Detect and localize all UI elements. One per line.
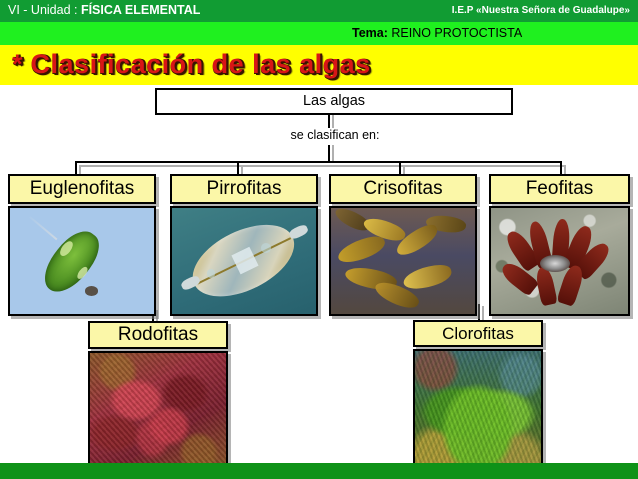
euglena-eyespot: [85, 286, 98, 296]
image-crisofitas: [329, 206, 477, 316]
kelp-blade: [401, 262, 453, 292]
caption-crisofitas: Crisofitas: [329, 174, 477, 204]
topic-value: REINO PROTOCTISTA: [391, 26, 522, 40]
euglena-flagellum: [30, 217, 58, 241]
image-euglenofitas: [8, 206, 156, 316]
connector-drop-clorofitas: [478, 304, 480, 320]
header-topic-band: Tema: REINO PROTOCTISTA: [0, 22, 638, 45]
kelp-blade: [335, 233, 387, 266]
topic-line: Tema: REINO PROTOCTISTA: [352, 26, 522, 40]
connector-root-stem-shadow: [332, 115, 334, 128]
diatom-vacuole-b: [261, 243, 271, 253]
alga-frond: [534, 266, 558, 307]
image-feofitas: [489, 206, 630, 316]
root-node-label: Las algas: [157, 90, 511, 113]
caption-feofitas: Feofitas: [489, 174, 630, 204]
classification-label: se clasifican en:: [240, 128, 430, 142]
alga-holdfast: [540, 255, 570, 272]
caption-euglenofitas-label: Euglenofitas: [10, 176, 154, 202]
header-top-band: VI - Unidad : FÍSICA ELEMENTAL I.E.P «Nu…: [0, 0, 638, 22]
title-banner: * Clasificación de las algas: [0, 45, 638, 85]
caption-clorofitas-label: Clorofitas: [415, 322, 541, 345]
caption-pirrofitas: Pirrofitas: [170, 174, 318, 204]
caption-pirrofitas-label: Pirrofitas: [172, 176, 316, 202]
connector-horizontal-bus-shadow: [79, 165, 566, 167]
image-clorofitas: [413, 349, 543, 475]
caption-crisofitas-label: Crisofitas: [331, 176, 475, 202]
image-pirrofitas: [170, 206, 318, 316]
green-alga-texture: [415, 351, 541, 473]
unit-title: VI - Unidad : FÍSICA ELEMENTAL: [8, 3, 200, 17]
connector-root-stem: [328, 115, 330, 128]
caption-clorofitas: Clorofitas: [413, 320, 543, 347]
connector-bus-stem-shadow: [332, 145, 334, 161]
image-rodofitas: [88, 351, 228, 473]
red-alga-texture: [90, 353, 226, 471]
diatom-tip-b: [287, 223, 308, 240]
caption-rodofitas: Rodofitas: [88, 321, 228, 349]
caption-feofitas-label: Feofitas: [491, 176, 628, 202]
slide-title: * Clasificación de las algas: [12, 49, 371, 80]
caption-rodofitas-label: Rodofitas: [90, 323, 226, 347]
school-name: I.E.P «Nuestra Señora de Guadalupe»: [452, 5, 630, 16]
caption-euglenofitas: Euglenofitas: [8, 174, 156, 204]
connector-drop-clorofitas-shadow: [482, 306, 484, 320]
root-node-las-algas: Las algas: [155, 88, 513, 115]
footer-band: [0, 463, 638, 479]
bullet-star-icon: *: [12, 49, 23, 79]
unit-prefix: VI - Unidad :: [8, 3, 81, 17]
slide-title-text: Clasificación de las algas: [31, 49, 371, 79]
unit-subject: FÍSICA ELEMENTAL: [81, 3, 200, 17]
topic-label: Tema:: [352, 26, 388, 40]
diatom-vacuole-a: [207, 269, 216, 277]
connector-horizontal-bus: [75, 161, 562, 163]
